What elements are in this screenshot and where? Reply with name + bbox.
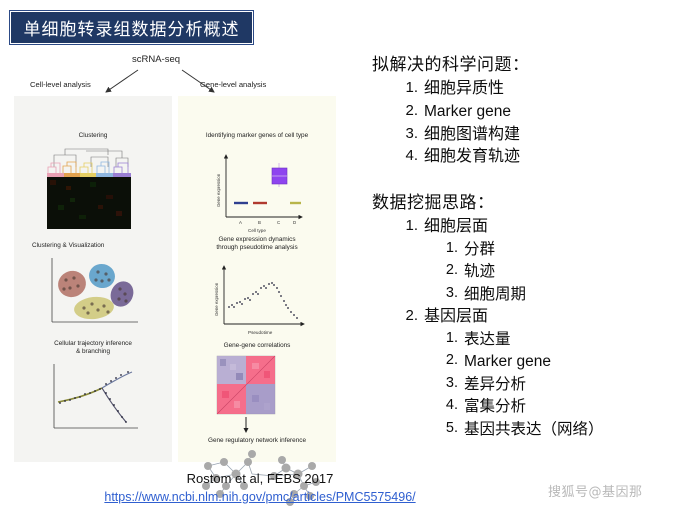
svg-text:Cell type: Cell type [248,228,266,233]
list-item: 2. 轨迹 [438,260,672,282]
list-text: 基因共表达（网络） [464,420,604,438]
list-text: 基因层面 [424,306,488,325]
svg-text:Pseudotime: Pseudotime [248,330,273,335]
svg-text:A: A [239,220,242,225]
figure-column-label-left: Cell-level analysis [30,80,91,89]
cluster-blobs-plot [46,256,146,332]
list-text: 富集分析 [464,397,526,415]
panel-title-grn-inference: Gene regulatory network inference [178,437,336,445]
list-mining-approach: 1. 细胞层面 1. 分群 2. 轨迹 3. 细胞周期 [398,215,672,440]
list-number: 3. [438,373,458,394]
list-number: 4. [398,145,418,166]
section-spacer [372,168,672,188]
list-item: 2. 基因层面 1. 表达量 2. Marker gene 3. 差异分析 [398,305,672,440]
list-text: 分群 [464,240,495,258]
list-number: 4. [438,395,458,416]
content-panel: 拟解决的科学问题： 1. 细胞异质性 2. Marker gene 3. 细胞图… [372,50,672,440]
section-heading-questions: 拟解决的科学问题： [372,50,672,75]
citation-reference: Rostom et al, FEBS 2017 [30,471,490,486]
svg-text:B: B [258,220,261,225]
list-item: 3. 差异分析 [438,373,672,395]
slide-canvas: 单细胞转录组数据分析概述 scRNA-seq Cell-level analys… [0,0,682,512]
panel-title-marker-genes: Identifying marker genes of cell type [178,132,336,140]
list-text: 细胞异质性 [424,78,504,97]
figure-column-label-right: Gene-level analysis [200,80,266,89]
svg-text:Gene expression: Gene expression [216,173,221,207]
figure-diagram: scRNA-seq Cell-level analysis Clustering [10,52,340,462]
panel-title-clustering-visualization: Clustering & Visualization [14,242,190,250]
gene-correlation-heatmap [216,355,298,417]
list-item: 4. 富集分析 [438,395,672,417]
svg-text:C: C [277,220,280,225]
list-number: 2. [398,305,418,326]
page-title: 单细胞转录组数据分析概述 [24,15,240,40]
list-text: 细胞发育轨迹 [424,146,520,165]
sublist-cell-level: 1. 分群 2. 轨迹 3. 细胞周期 [438,238,672,305]
list-text: 轨迹 [464,262,495,280]
panel-title-cellular-trajectory: Cellular trajectory inference & branchin… [14,340,172,356]
list-number: 1. [438,238,458,259]
marker-gene-boxplot: Gene expression Cell type A B C D [198,145,316,239]
citation-url-wrapper: https://www.ncbi.nlm.nih.gov/pmc/article… [30,489,490,504]
list-item: 3. 细胞图谱构建 [398,123,672,146]
list-text: Marker gene [424,103,511,120]
clustering-heatmap-plot [46,145,138,231]
trajectory-plot [46,362,146,440]
citation-url-link[interactable]: https://www.ncbi.nlm.nih.gov/pmc/article… [104,490,415,504]
list-text: 细胞层面 [424,216,488,235]
pseudotime-scatter-plot: Gene expression Pseudotime [198,258,316,340]
list-number: 2. [398,100,418,121]
list-number: 1. [398,215,418,236]
list-number: 2. [438,350,458,371]
list-item: 4. 细胞发育轨迹 [398,145,672,168]
list-item: 1. 细胞异质性 [398,77,672,100]
list-item: 2. Marker gene [398,100,672,123]
svg-text:D: D [293,220,296,225]
list-scientific-questions: 1. 细胞异质性 2. Marker gene 3. 细胞图谱构建 4. 细胞发… [398,77,672,168]
panel-title-clustering: Clustering [14,132,172,140]
list-number: 1. [398,77,418,98]
list-text: 差异分析 [464,375,526,393]
svg-text:Gene expression: Gene expression [214,282,219,316]
list-item: 1. 分群 [438,238,672,260]
correlation-to-network-arrow-icon [216,417,298,439]
list-text: Marker gene [464,353,551,370]
sublist-gene-level: 1. 表达量 2. Marker gene 3. 差异分析 4. 富集分析 [438,328,672,441]
list-item: 3. 细胞周期 [438,283,672,305]
list-item: 1. 表达量 [438,328,672,350]
list-number: 2. [438,260,458,281]
list-item: 2. Marker gene [438,350,672,373]
section-heading-mining: 数据挖掘思路： [372,188,672,213]
list-text: 表达量 [464,330,511,348]
list-text: 细胞图谱构建 [424,124,520,143]
list-text: 细胞周期 [464,285,526,303]
list-item: 5. 基因共表达（网络） [438,418,672,440]
list-number: 3. [438,283,458,304]
figure-source-label: scRNA-seq [132,54,180,65]
watermark: 搜狐号@基因那 [548,481,643,500]
list-number: 5. [438,418,458,439]
list-item: 1. 细胞层面 1. 分群 2. 轨迹 3. 细胞周期 [398,215,672,305]
panel-title-gene-correlations: Gene-gene correlations [178,342,336,350]
panel-title-pseudotime: Gene expression dynamics through pseudot… [178,236,336,252]
slide-title-box: 单细胞转录组数据分析概述 [10,11,253,44]
list-number: 1. [438,328,458,349]
list-number: 3. [398,123,418,144]
